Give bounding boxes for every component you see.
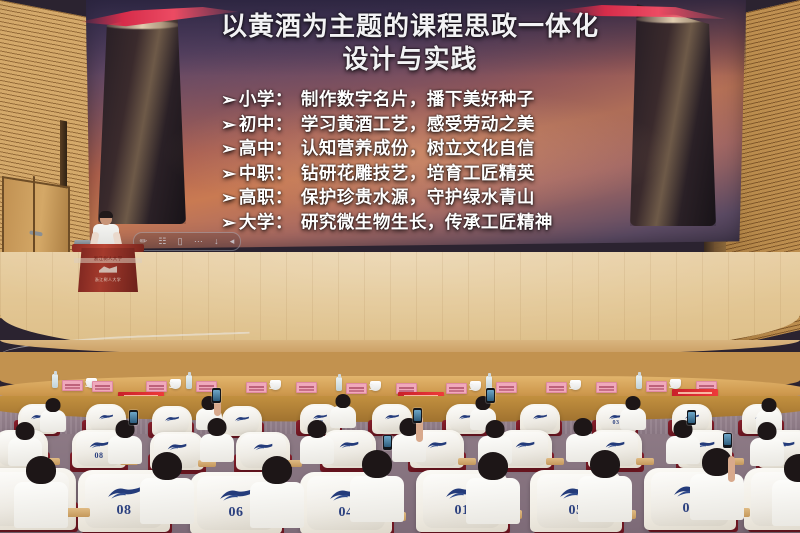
- audience-member-shirt: [40, 410, 66, 432]
- slide-bullet-label: 大学：: [239, 211, 301, 234]
- audience-member-head: [626, 396, 641, 410]
- audience-member: [14, 456, 68, 530]
- smartphone-recording: [687, 410, 696, 425]
- smartphone-recording: [212, 388, 221, 403]
- school-crest-icon: [253, 443, 273, 450]
- audience-member-head: [152, 452, 182, 480]
- slide-bullet-item: ➢小学：制作数字名片，播下美好种子: [222, 88, 652, 113]
- name-card: [496, 382, 517, 393]
- slide-title-line-1: 以黄酒为主题的课程思政一体化: [120, 10, 700, 43]
- podium-nameplate: 浙江树人大学: [78, 277, 138, 283]
- audience-member: [300, 420, 334, 466]
- bullet-arrow-icon: ➢: [221, 188, 237, 211]
- water-bottle: [52, 374, 58, 388]
- audience-member-shirt: [772, 480, 800, 526]
- slide-bullet-text: 学习黄酒工艺，感受劳动之美: [301, 113, 535, 136]
- audience-member-shirt: [108, 436, 142, 464]
- audience-member-head: [16, 422, 35, 440]
- bullet-arrow-icon: ➢: [221, 139, 237, 162]
- audience-member: [578, 450, 632, 524]
- audience-member-shirt: [466, 478, 520, 524]
- podium: 浙江树人大学: [78, 248, 138, 292]
- seat-armrest: [546, 458, 564, 465]
- bullet-arrow-icon: ➢: [221, 90, 237, 113]
- audience-member-head: [308, 420, 327, 438]
- tea-cup: [570, 380, 581, 390]
- water-bottle: [186, 375, 192, 389]
- school-crest-icon: [339, 441, 359, 448]
- bullet-arrow-icon: ➢: [221, 115, 237, 138]
- audience-member-head: [46, 398, 61, 412]
- audience-member-head: [336, 394, 351, 408]
- name-card: [596, 382, 617, 393]
- slide-bullet-item: ➢大学：研究微生物生长，传承工匠精神: [222, 211, 652, 236]
- audience-member-head: [486, 420, 505, 438]
- name-card: [62, 380, 83, 391]
- name-card: [446, 383, 467, 394]
- name-card: [346, 383, 367, 394]
- school-crest-icon: [107, 487, 142, 500]
- slide-bullet-item: ➢高职：保护珍贵水源，守护绿水青山: [222, 186, 652, 211]
- bullet-arrow-icon: ➢: [221, 164, 237, 187]
- tea-cup: [270, 380, 281, 390]
- audience-member-shirt: [250, 482, 304, 528]
- audience-member-head: [590, 450, 620, 478]
- more-options-icon[interactable]: ⋯: [194, 237, 203, 246]
- name-card: [92, 381, 113, 392]
- smartphone-recording: [129, 410, 138, 425]
- audience-member: [690, 448, 744, 522]
- seat-number: 08: [117, 503, 132, 519]
- audience-member-shirt: [140, 478, 194, 524]
- smartphone-recording: [383, 435, 392, 450]
- audience-member-shirt: [578, 476, 632, 522]
- school-crest-icon: [219, 489, 254, 502]
- tea-cup: [370, 381, 381, 391]
- audience-member-head: [478, 452, 508, 480]
- lecture-hall-photo: 以黄酒为主题的课程思政一体化 设计与实践 ➢小学：制作数字名片，播下美好种子➢初…: [0, 0, 800, 533]
- school-crest-icon: [605, 441, 625, 448]
- name-card: [146, 381, 167, 392]
- slide-bullet-label: 初中：: [239, 113, 301, 136]
- audience-member: [620, 396, 646, 432]
- slide-bullet-item: ➢初中：学习黄酒工艺，感受劳动之美: [222, 113, 652, 138]
- school-crest-icon: [167, 443, 187, 450]
- audience-member-shirt: [350, 476, 404, 522]
- audience-member-head: [208, 418, 227, 436]
- tea-cup: [170, 379, 181, 389]
- audience-member: [108, 420, 142, 466]
- name-card: [646, 381, 667, 392]
- school-crest-icon: [515, 441, 535, 448]
- audience-member: [772, 454, 800, 528]
- grid-icon[interactable]: ☷: [158, 237, 166, 246]
- speaker-icon[interactable]: ◂: [230, 237, 235, 246]
- slide-bullet-label: 高职：: [239, 186, 301, 209]
- slide-bullet-label: 中职：: [239, 162, 301, 185]
- audience-member-head: [758, 422, 777, 440]
- school-crest-icon: [312, 414, 327, 420]
- audience-member: [350, 450, 404, 524]
- audience-member-head: [784, 454, 800, 482]
- water-bottle: [336, 377, 342, 391]
- screen-icon[interactable]: ▯: [178, 237, 183, 246]
- name-card: [546, 382, 567, 393]
- slide-bullet-item: ➢中职：钻研花雕技艺，培育工匠精英: [222, 162, 652, 187]
- school-crest-icon: [89, 441, 109, 448]
- slide-bullet-text: 认知营养成份，树立文化自信: [301, 137, 535, 160]
- school-crest-icon: [427, 441, 447, 448]
- smartphone-recording: [723, 433, 732, 448]
- podium-upper-nameplate: 浙江树人大学: [74, 258, 142, 263]
- name-card: [246, 382, 267, 393]
- slide-bullet-text: 钻研花雕技艺，培育工匠精英: [301, 162, 535, 185]
- presenter-toolbar[interactable]: ✏ ☷ ▯ ⋯ ↓ ◂: [133, 232, 241, 251]
- university-crest-icon: [99, 266, 117, 273]
- audience-member: [140, 452, 194, 526]
- audience-member: [466, 452, 520, 526]
- slide-bullet-list: ➢小学：制作数字名片，播下美好种子➢初中：学习黄酒工艺，感受劳动之美➢高中：认知…: [222, 88, 652, 235]
- audience-member-head: [574, 418, 593, 436]
- podium-upper-nameplate-text: 浙江树人大学: [74, 256, 142, 262]
- slide-bullet-label: 小学：: [239, 88, 301, 111]
- audience-member-head: [26, 456, 56, 484]
- tea-cup: [470, 381, 481, 391]
- slide-bullet-text: 研究微生物生长，传承工匠精神: [301, 211, 553, 234]
- slide-bullet-text: 制作数字名片，播下美好种子: [301, 88, 535, 111]
- presenter-hair: [99, 211, 113, 218]
- slide-bullet-item: ➢高中：认知营养成份，树立文化自信: [222, 137, 652, 162]
- audience-member-head: [762, 398, 777, 412]
- seat-number: 08: [95, 451, 104, 460]
- school-crest-icon: [234, 416, 249, 422]
- audience-member-shirt: [14, 482, 68, 528]
- audience-member: [200, 418, 234, 464]
- laser-pointer-icon[interactable]: ↓: [214, 237, 219, 246]
- slide-title-line-2: 设计与实践: [120, 43, 700, 76]
- audience-member-shirt: [300, 436, 334, 464]
- slide-bullet-label: 高中：: [239, 137, 301, 160]
- audience-member-head: [362, 450, 392, 478]
- seat-armrest: [636, 458, 654, 465]
- seat-number: 03: [613, 420, 620, 426]
- audience-member-raised-arm: [728, 456, 735, 482]
- slide-bullet-text: 保护珍贵水源，守护绿水青山: [301, 186, 535, 209]
- audience-member-head: [262, 456, 292, 484]
- seat-number: 06: [229, 505, 244, 521]
- audience-member: [250, 456, 304, 530]
- smartphone-recording: [486, 388, 495, 403]
- school-crest-icon: [164, 416, 179, 422]
- tea-cup: [670, 379, 681, 389]
- name-card: [296, 382, 317, 393]
- audience-member: [40, 398, 66, 434]
- school-crest-icon: [98, 414, 113, 420]
- slide-title: 以黄酒为主题的课程思政一体化 设计与实践: [120, 10, 700, 77]
- audience-member-shirt: [200, 434, 234, 462]
- audience-member-shirt: [690, 474, 744, 520]
- smartphone-recording: [413, 408, 422, 423]
- water-bottle: [636, 375, 642, 389]
- audience-member-shirt: [620, 408, 646, 430]
- school-crest-icon: [532, 414, 547, 420]
